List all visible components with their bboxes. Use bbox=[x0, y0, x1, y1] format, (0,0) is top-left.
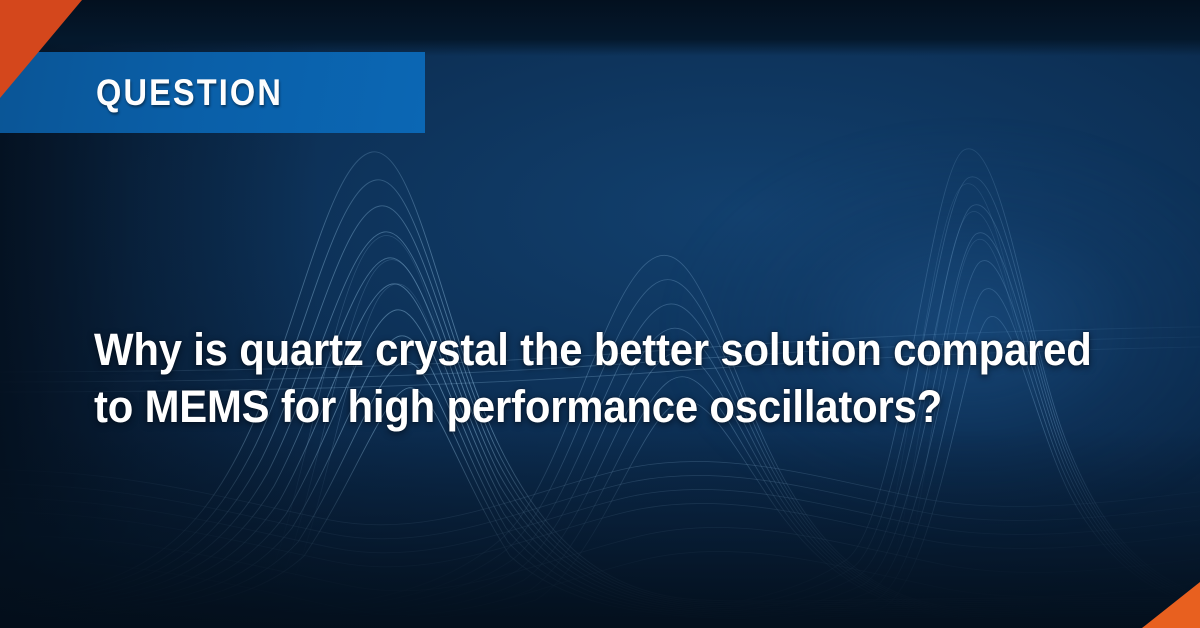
headline-line-2: to MEMS for high performance oscillators… bbox=[94, 379, 1033, 436]
top-dark-band bbox=[0, 0, 1200, 56]
bottom-right-orange-triangle-icon bbox=[1142, 582, 1200, 628]
headline-line-1: Why is quartz crystal the better solutio… bbox=[94, 322, 1033, 379]
top-left-orange-triangle-icon bbox=[0, 0, 82, 98]
headline: Why is quartz crystal the better solutio… bbox=[94, 322, 1033, 435]
question-label-text: QUESTION bbox=[96, 74, 283, 111]
question-slide: QUESTION Why is quartz crystal the bette… bbox=[0, 0, 1200, 628]
bottom-vignette bbox=[0, 428, 1200, 628]
